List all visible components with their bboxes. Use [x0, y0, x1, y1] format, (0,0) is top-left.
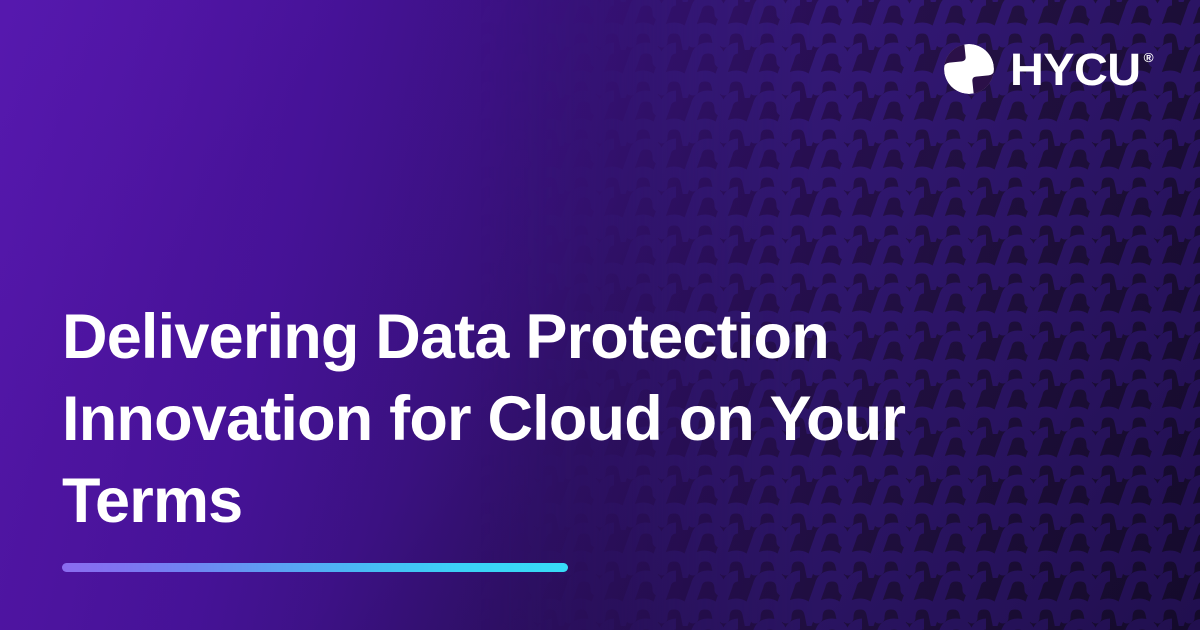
- hycu-wordmark-text: HYCU: [1010, 47, 1141, 92]
- headline-text: Delivering Data Protection Innovation fo…: [62, 296, 942, 542]
- registered-trademark-symbol: ®: [1144, 51, 1153, 64]
- hycu-logo[interactable]: HYCU ®: [943, 44, 1148, 94]
- accent-divider-bar: [62, 563, 568, 572]
- hycu-wordmark: HYCU ®: [1010, 47, 1153, 92]
- social-card: HYCU ® Delivering Data Protection Innova…: [0, 0, 1200, 630]
- hycu-wave-mark-icon: [943, 43, 995, 95]
